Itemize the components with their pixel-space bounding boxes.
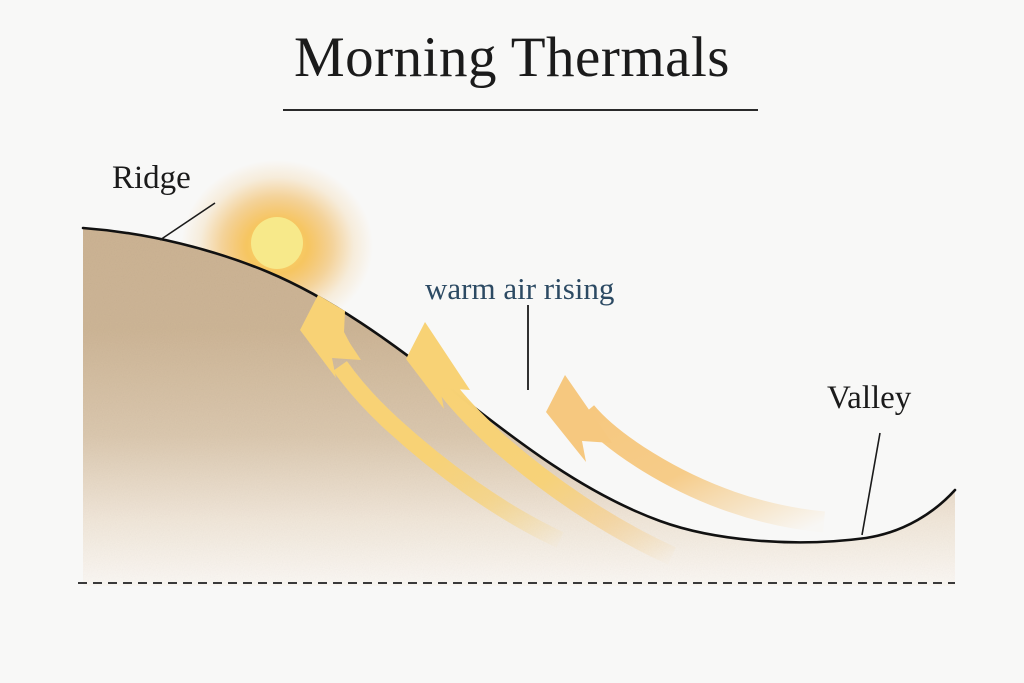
- title-underline-rule: [283, 109, 758, 111]
- thermals-illustration: Morning Thermals Ridge warm air rising V…: [0, 0, 1024, 683]
- title-block: Morning Thermals: [0, 28, 1024, 88]
- sun-disc: [251, 217, 303, 269]
- page-title: Morning Thermals: [0, 28, 1024, 88]
- label-valley: Valley: [827, 380, 911, 417]
- label-ridge: Ridge: [112, 160, 191, 197]
- valley-leader-line: [862, 433, 880, 535]
- scene-graphic: [0, 0, 1024, 683]
- label-warm-air-rising: warm air rising: [425, 271, 614, 307]
